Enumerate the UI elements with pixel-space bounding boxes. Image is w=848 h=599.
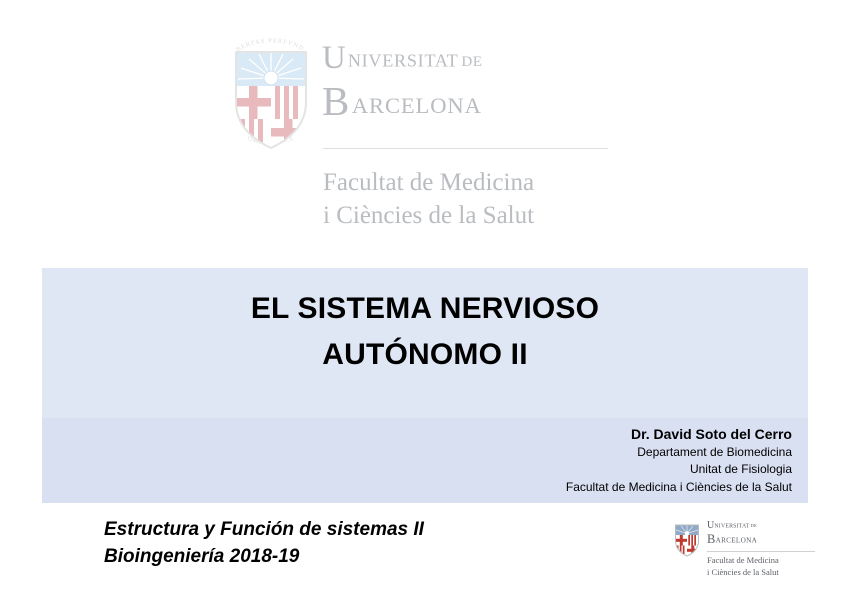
wordmark-line1-initial: U [322, 40, 348, 76]
faculty-name-line1: Facultat de Medicina [323, 166, 623, 199]
footer-university-logo: UNIVERSITATDE BARCELONA Facultat de Medi… [674, 521, 824, 575]
logo-divider [323, 148, 608, 149]
footer-wordmark-line1-de: DE [750, 523, 757, 528]
wordmark-line1-de: DE [461, 54, 482, 70]
author-faculty: Facultat de Medicina i Ciències de la Sa… [566, 479, 792, 496]
footer-faculty-name: Facultat de Medicina i Ciències de la Sa… [707, 555, 779, 578]
course-year: Bioingeniería 2018-19 [104, 544, 424, 571]
footer-faculty-line2: i Ciències de la Salut [707, 567, 779, 579]
author-band: Dr. David Soto del Cerro Departament de … [42, 418, 808, 503]
wordmark-universitat-de: UNIVERSITATDE [322, 42, 622, 75]
page-title-line2: AUTÓNOMO II [42, 332, 808, 378]
universitat-de-barcelona-crest-icon: · LIBERTAS PERFVNDET · · OMNIA LVCE · [228, 38, 314, 154]
footer-university-wordmark: UNIVERSITATDE BARCELONA [707, 521, 822, 546]
footer-faculty-line1: Facultat de Medicina [707, 555, 779, 567]
universitat-de-barcelona-crest-icon-small [674, 523, 700, 557]
footer-wordmark-universitat-de: UNIVERSITATDE [707, 521, 822, 531]
faculty-name-line2: i Ciències de la Salut [323, 199, 623, 232]
footer-wordmark-line2-initial: B [707, 532, 716, 546]
faculty-name: Facultat de Medicina i Ciències de la Sa… [323, 166, 623, 232]
course-title: Estructura y Función de sistemas II [104, 517, 424, 544]
footer-logo-divider [707, 551, 815, 552]
author-block: Dr. David Soto del Cerro Departament de … [566, 424, 792, 496]
title-band: EL SISTEMA NERVIOSO AUTÓNOMO II [42, 268, 808, 418]
wordmark-line2-body: ARCELONA [352, 93, 482, 118]
author-department: Departament de Biomedicina [566, 444, 792, 461]
page-title-line1: EL SISTEMA NERVIOSO [42, 286, 808, 332]
course-info: Estructura y Función de sistemas II Bioi… [104, 517, 424, 571]
wordmark-line1-body: NIVERSITAT [348, 51, 459, 71]
author-unit: Unitat de Fisiologia [566, 461, 792, 478]
author-name: Dr. David Soto del Cerro [566, 424, 792, 444]
page-title: EL SISTEMA NERVIOSO AUTÓNOMO II [42, 286, 808, 377]
footer-wordmark-barcelona: BARCELONA [707, 533, 822, 546]
header-university-logo: · LIBERTAS PERFVNDET · · OMNIA LVCE · [228, 36, 628, 241]
wordmark-barcelona: BARCELONA [322, 81, 622, 122]
university-wordmark: UNIVERSITATDE BARCELONA [322, 42, 622, 122]
footer-wordmark-line2-body: ARCELONA [716, 536, 757, 544]
footer-wordmark-line1-body: NIVERSITAT [714, 524, 749, 530]
wordmark-line2-initial: B [322, 78, 352, 124]
